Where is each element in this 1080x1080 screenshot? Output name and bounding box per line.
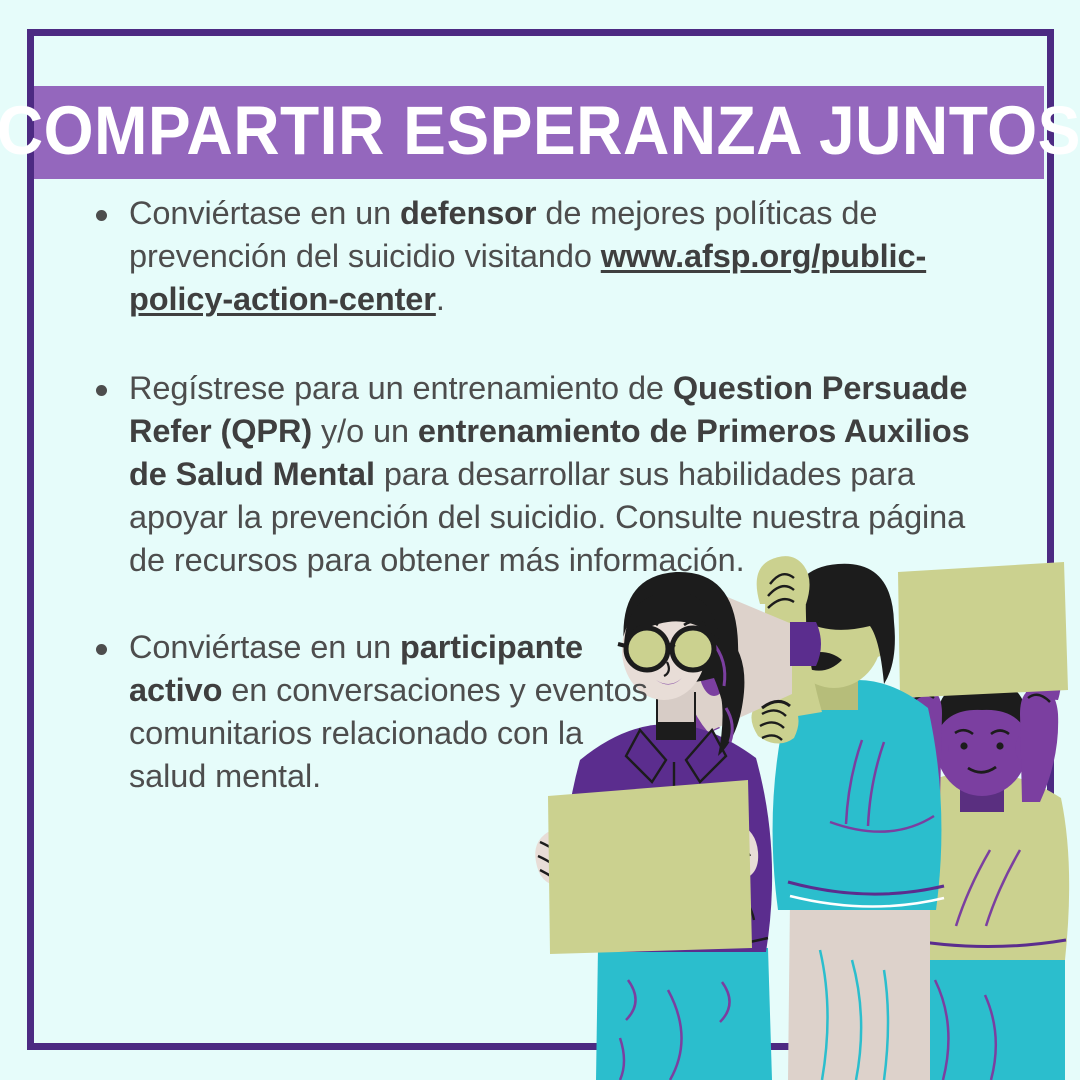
header-banner: COMPARTIR ESPERANZA JUNTOS [34, 86, 1044, 179]
bullet-dot-icon [96, 644, 107, 655]
bullet-advocate-text: Conviértase en un defensor de mejores po… [129, 192, 976, 321]
body-text: Conviértase en un [129, 629, 400, 665]
page-title: COMPARTIR ESPERANZA JUNTOS [0, 96, 1080, 169]
sign-left [548, 780, 752, 954]
bullet-training-text: Regístrese para un entrenamiento de Ques… [129, 367, 976, 582]
bullet-dot-icon [96, 385, 107, 396]
list-item: Conviértase en un participante activo en… [96, 626, 661, 798]
body-text: Regístrese para un entrenamiento de [129, 370, 673, 406]
body-text: Conviértase en un [129, 195, 400, 231]
body-text: . [436, 281, 445, 317]
bullet-list: Conviértase en un defensor de mejores po… [96, 192, 996, 798]
body-text: y/o un [312, 413, 418, 449]
list-item: Regístrese para un entrenamiento de Ques… [96, 367, 976, 582]
emphasis-text: defensor [400, 195, 536, 231]
list-item: Conviértase en un defensor de mejores po… [96, 192, 976, 321]
bullet-dot-icon [96, 210, 107, 221]
bullet-participant-text: Conviértase en un participante activo en… [129, 626, 661, 798]
poster-canvas: COMPARTIR ESPERANZA JUNTOS Conviértase e… [0, 0, 1080, 1080]
